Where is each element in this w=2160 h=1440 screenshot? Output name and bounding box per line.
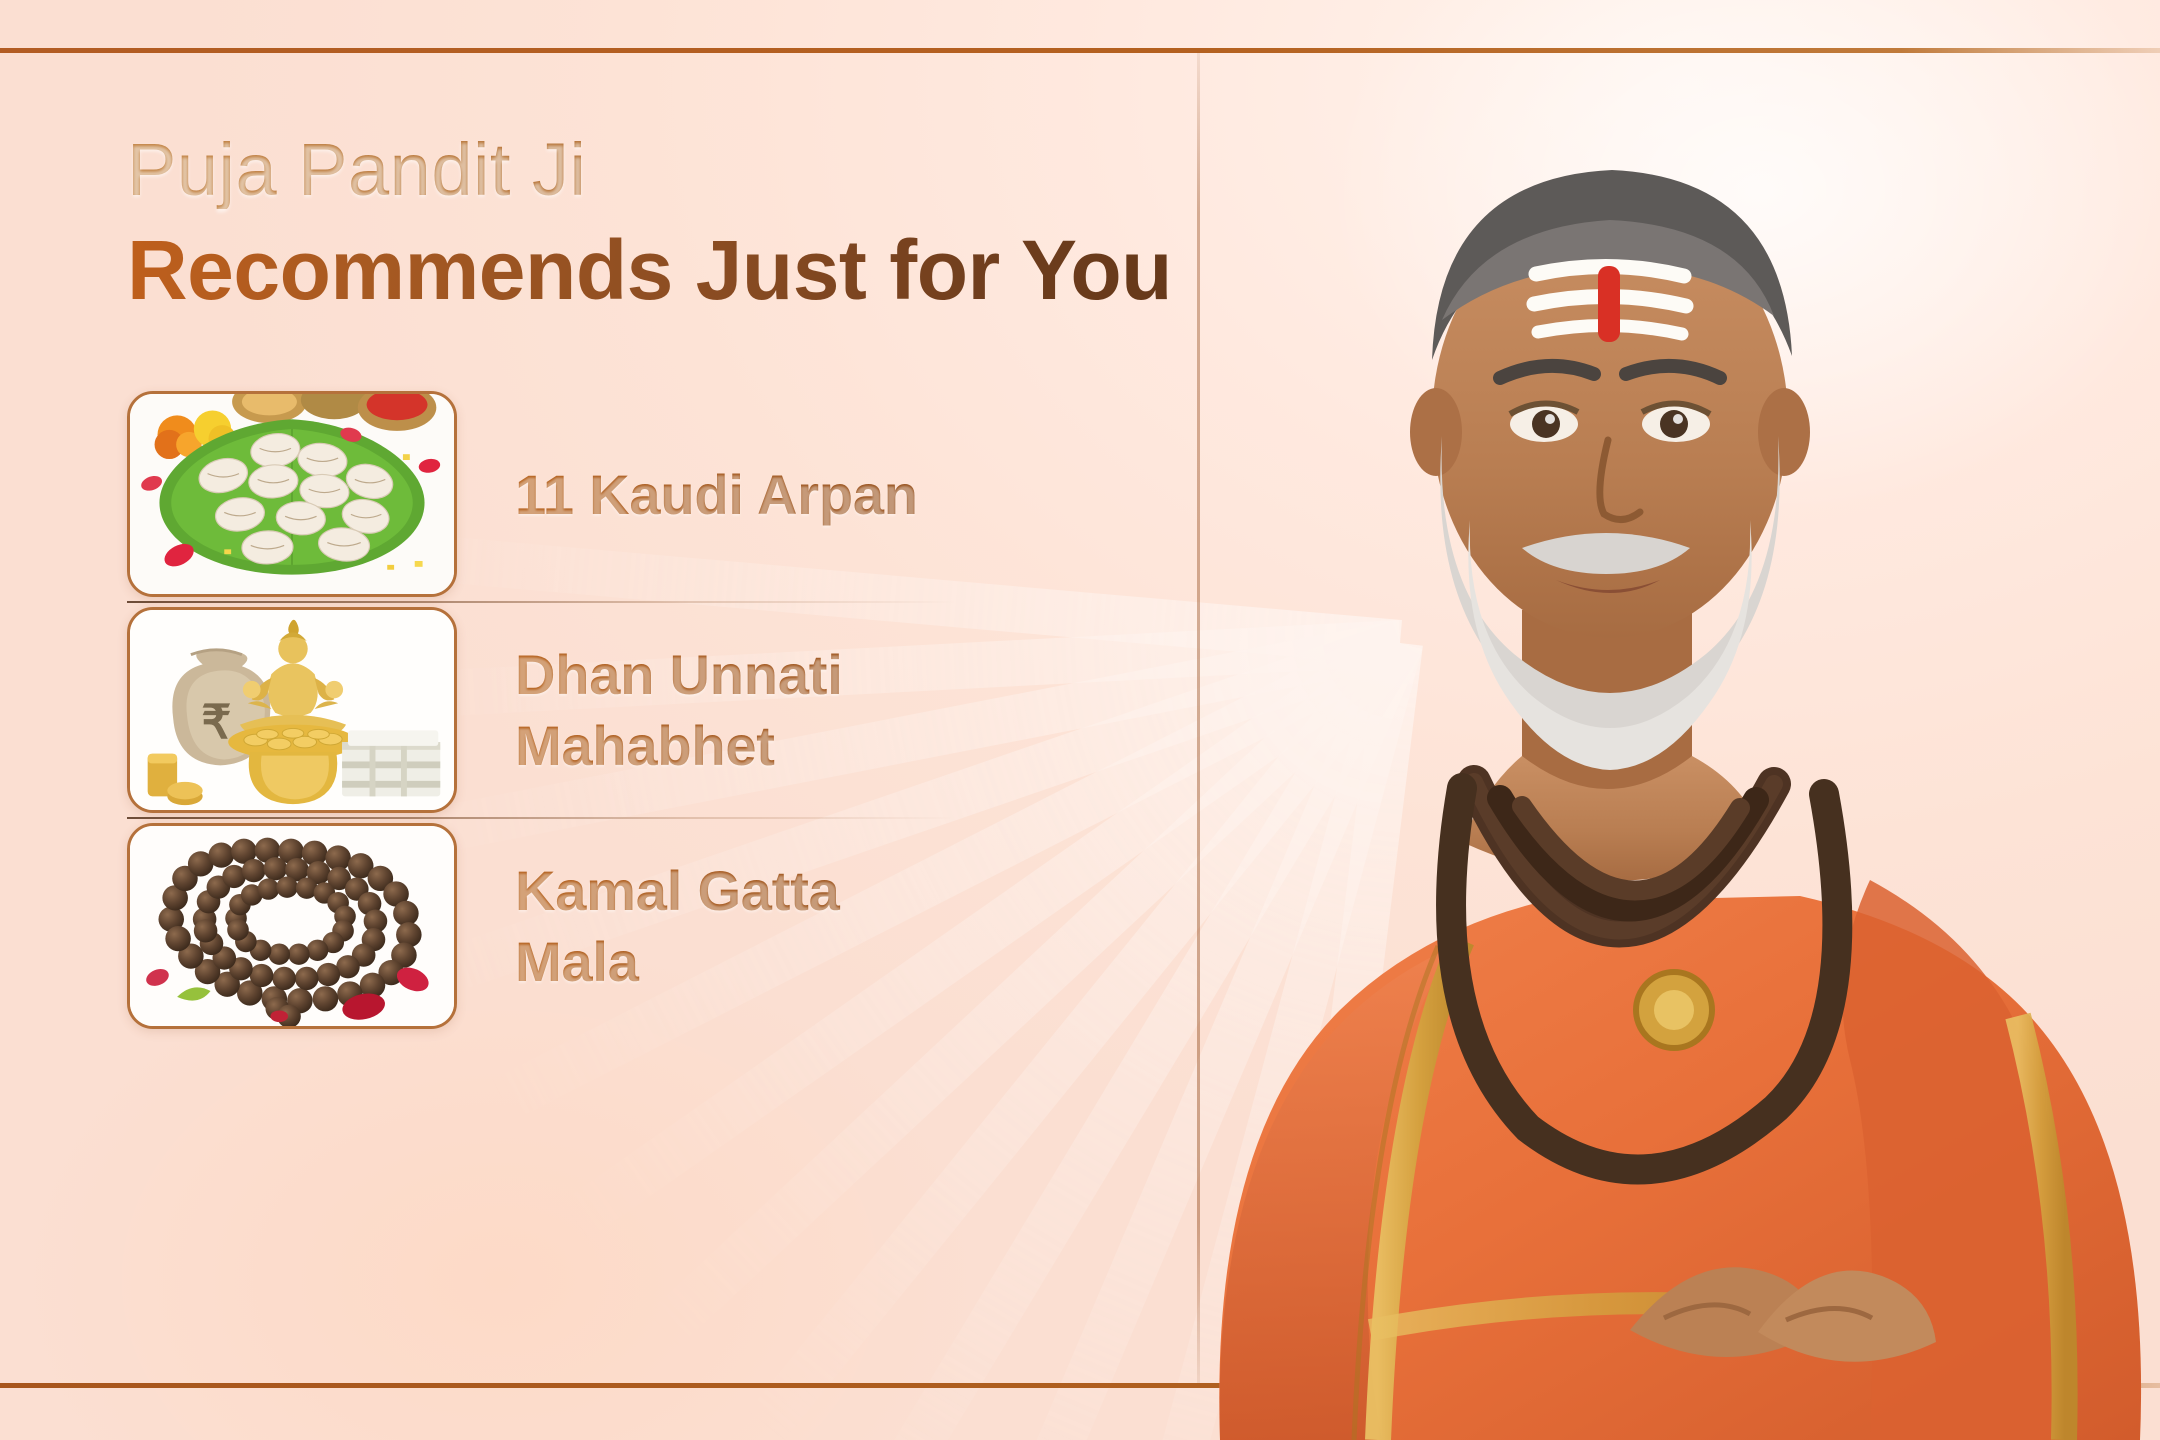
list-item-label: Dhan Unnati Mahabhet: [515, 639, 957, 782]
lakshmi-gold-prosperity-thumbnail[interactable]: ₹: [127, 607, 457, 813]
svg-text:₹: ₹: [201, 697, 231, 749]
page-title: Recommends Just for You: [127, 225, 1197, 316]
recommendation-banner: Puja Pandit Ji Recommends Just for You: [0, 0, 2160, 1440]
recommendation-list: 11 Kaudi Arpan ₹: [127, 387, 957, 1033]
content-column: Puja Pandit Ji Recommends Just for You: [0, 53, 1197, 1383]
list-item[interactable]: ₹: [127, 603, 957, 817]
list-item-label: 11 Kaudi Arpan: [515, 459, 918, 531]
kaudi-shells-on-betel-leaf-thumbnail[interactable]: [127, 391, 457, 597]
list-item-label: Kamal Gatta Mala: [515, 855, 957, 998]
kamal-gatta-mala-beads-thumbnail[interactable]: [127, 823, 457, 1029]
list-item[interactable]: 11 Kaudi Arpan: [127, 387, 957, 601]
list-item[interactable]: Kamal Gatta Mala: [127, 819, 957, 1033]
pandit-ji-portrait: [1160, 0, 2160, 1440]
eyebrow-title: Puja Pandit Ji: [127, 131, 1197, 209]
